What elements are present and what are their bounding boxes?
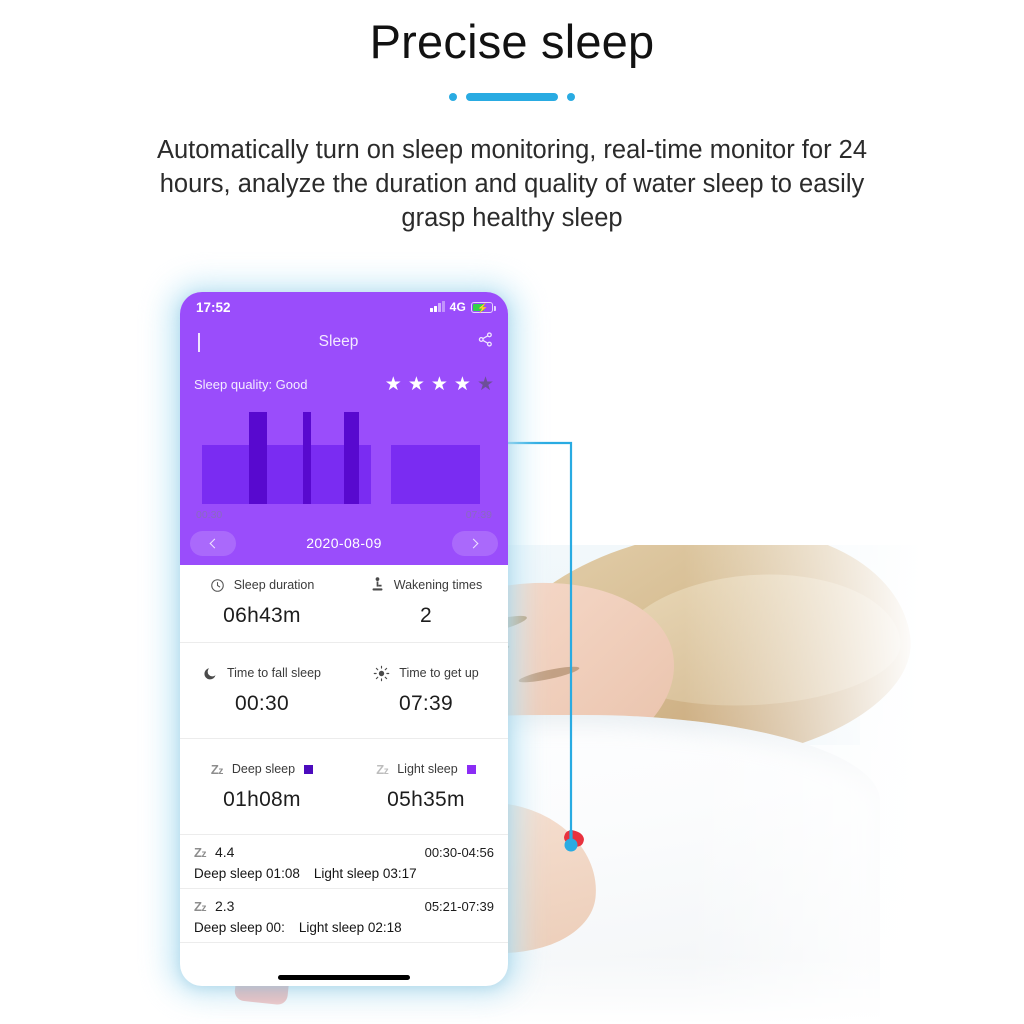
metric-label: Time to get up xyxy=(399,666,478,680)
metric-row-times: Time to fall sleep 00:30 Time to get up xyxy=(180,643,508,739)
chart-segment-deep xyxy=(344,412,359,504)
chevron-left-icon xyxy=(198,333,200,352)
back-button[interactable] xyxy=(194,333,200,351)
log-light-sleep: Light sleep 02:18 xyxy=(299,920,402,935)
star-icon-2: ★ xyxy=(408,375,425,394)
metric-value: 05h35m xyxy=(387,788,465,812)
clock-icon xyxy=(210,578,225,593)
metrics-area: Sleep duration 06h43m Wakening times xyxy=(180,565,508,943)
metric-label: Light sleep xyxy=(397,762,457,776)
metric-row-stages: Zz Deep sleep 01h08m Zz Light sleep 05h3… xyxy=(180,739,508,835)
list-item[interactable]: Zz 4.4 00:30-04:56 Deep sleep 01:08 Ligh… xyxy=(180,835,508,889)
zz-icon: Zz xyxy=(211,762,223,777)
app-header-area: 17:52 4G ⚡ Sleep xyxy=(180,292,508,565)
zz-icon: Zz xyxy=(194,845,206,860)
chart-segment-light xyxy=(391,445,480,504)
prev-day-button[interactable] xyxy=(190,531,236,556)
screen-title: Sleep xyxy=(319,333,359,351)
log-deep-sleep: Deep sleep 00: xyxy=(194,920,285,935)
sleep-log-list: Zz 4.4 00:30-04:56 Deep sleep 01:08 Ligh… xyxy=(180,835,508,943)
star-icon-3: ★ xyxy=(431,375,448,394)
metric-value: 01h08m xyxy=(223,788,301,812)
metric-value: 2 xyxy=(420,604,432,628)
promo-page: Precise sleep Automatically turn on slee… xyxy=(0,0,1024,1024)
metric-label: Time to fall sleep xyxy=(227,666,321,680)
deep-sleep-color-swatch xyxy=(304,765,313,774)
battery-charging-icon: ⚡ xyxy=(471,302,493,313)
metric-value: 07:39 xyxy=(399,692,453,716)
share-icon xyxy=(477,331,494,348)
signal-bars-icon xyxy=(430,302,445,312)
sun-icon xyxy=(373,665,390,682)
metric-deep-sleep: Zz Deep sleep 01h08m xyxy=(180,759,344,812)
status-indicators: 4G ⚡ xyxy=(430,300,493,314)
log-score: 2.3 xyxy=(215,898,234,914)
metric-time-to-fall-sleep: Time to fall sleep 00:30 xyxy=(180,663,344,716)
photo-right-fade xyxy=(684,545,1024,1024)
chart-axis-end: 07:39 xyxy=(466,509,492,521)
divider-bar xyxy=(466,93,558,101)
sleep-quality-label: Sleep quality: Good xyxy=(194,377,307,392)
list-item[interactable]: Zz 2.3 05:21-07:39 Deep sleep 00: Light … xyxy=(180,889,508,943)
chart-segment-deep xyxy=(303,412,312,504)
status-time: 17:52 xyxy=(196,300,231,315)
metric-label: Sleep duration xyxy=(234,578,315,592)
share-button[interactable] xyxy=(477,331,494,353)
chart-segment-deep xyxy=(249,412,267,504)
metric-time-to-get-up: Time to get up 07:39 xyxy=(344,663,508,716)
log-deep-sleep: Deep sleep 01:08 xyxy=(194,866,300,881)
metric-row-duration: Sleep duration 06h43m Wakening times xyxy=(180,565,508,643)
metric-wakening-times: Wakening times 2 xyxy=(344,575,508,628)
current-date: 2020-08-09 xyxy=(306,535,382,551)
moon-icon xyxy=(203,666,218,681)
log-score: 4.4 xyxy=(215,844,234,860)
chart-axis-labels: 00:30 07:39 xyxy=(196,509,492,521)
network-label: 4G xyxy=(450,300,466,314)
star-rating: ★ ★ ★ ★ ★ xyxy=(385,375,494,394)
page-subtitle: Automatically turn on sleep monitoring, … xyxy=(130,133,894,235)
star-icon-4: ★ xyxy=(454,375,471,394)
zz-icon: Zz xyxy=(194,899,206,914)
star-icon-5: ★ xyxy=(477,375,494,394)
metric-value: 06h43m xyxy=(223,604,301,628)
chevron-left-icon xyxy=(210,538,220,548)
star-icon-1: ★ xyxy=(385,375,402,394)
status-bar: 17:52 4G ⚡ xyxy=(180,292,508,322)
divider-dot-right xyxy=(567,93,575,101)
home-indicator xyxy=(278,975,410,980)
log-light-sleep: Light sleep 03:17 xyxy=(314,866,417,881)
log-range: 05:21-07:39 xyxy=(425,899,494,914)
date-navigation: 2020-08-09 xyxy=(190,529,498,557)
chart-axis-start: 00:30 xyxy=(196,509,222,521)
chevron-right-icon xyxy=(469,538,479,548)
phone-mockup: 17:52 4G ⚡ Sleep xyxy=(180,292,508,986)
page-title: Precise sleep xyxy=(0,14,1024,69)
light-sleep-color-swatch xyxy=(467,765,476,774)
metric-sleep-duration: Sleep duration 06h43m xyxy=(180,575,344,628)
app-navbar: Sleep xyxy=(180,322,508,362)
metric-label: Wakening times xyxy=(394,578,482,592)
sleep-quality-row: Sleep quality: Good ★ ★ ★ ★ ★ xyxy=(180,362,508,394)
metric-light-sleep: Zz Light sleep 05h35m xyxy=(344,759,508,812)
log-range: 00:30-04:56 xyxy=(425,845,494,860)
next-day-button[interactable] xyxy=(452,531,498,556)
divider-dot-left xyxy=(449,93,457,101)
zz-icon: Zz xyxy=(376,762,388,777)
wake-up-person-icon xyxy=(370,577,385,593)
sleep-stage-chart xyxy=(196,412,492,504)
title-divider xyxy=(0,93,1024,101)
metric-label: Deep sleep xyxy=(232,762,295,776)
metric-value: 00:30 xyxy=(235,692,289,716)
